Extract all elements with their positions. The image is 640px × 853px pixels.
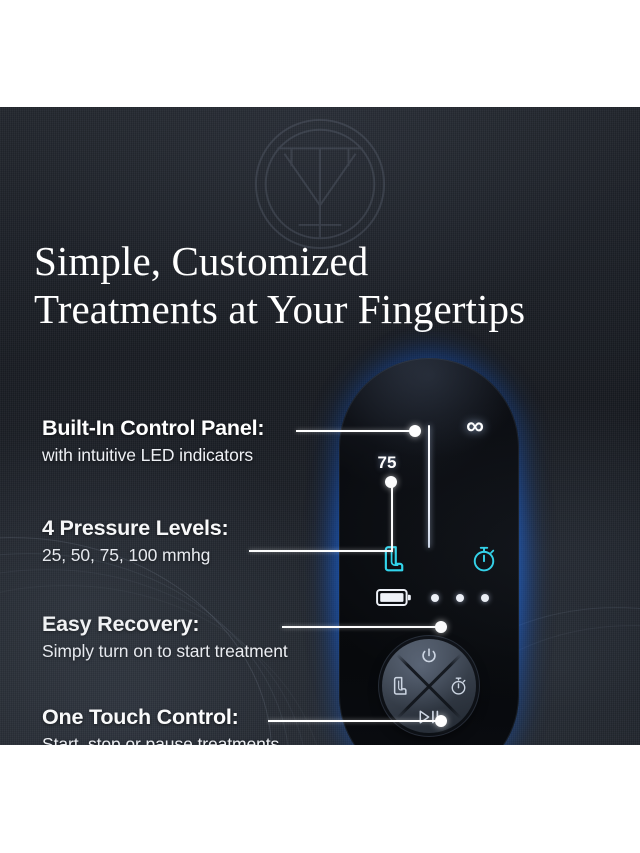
callout-subtitle: Start, stop or pause treatments xyxy=(42,733,279,745)
headline-line-2: Treatments at Your Fingertips xyxy=(34,285,604,333)
led-level-bar xyxy=(428,425,430,548)
callout-end-dot xyxy=(435,715,447,727)
button-pad[interactable] xyxy=(382,639,476,733)
callout-easy-recovery: Easy Recovery: Simply turn on to start t… xyxy=(42,612,288,663)
callout-end-dot xyxy=(409,425,421,437)
boot-icon[interactable] xyxy=(391,676,407,696)
callout-subtitle: Simply turn on to start treatment xyxy=(42,640,288,663)
battery-level-dot xyxy=(481,594,489,602)
callout-subtitle: 25, 50, 75, 100 mmhg xyxy=(42,544,228,567)
callout-built-in-control-panel: Built-In Control Panel: with intuitive L… xyxy=(42,416,264,467)
callout-leader-line xyxy=(268,720,441,722)
pressure-value-label: 75 xyxy=(368,454,406,472)
callout-leader-line-vertical xyxy=(391,482,393,552)
callout-title: Easy Recovery: xyxy=(42,612,288,637)
callout-one-touch-control: One Touch Control: Start, stop or pause … xyxy=(42,705,279,745)
product-photo-background: Simple, Customized Treatments at Your Fi… xyxy=(0,107,640,745)
power-icon[interactable] xyxy=(420,647,438,665)
callout-title: One Touch Control: xyxy=(42,705,279,730)
callout-end-dot xyxy=(435,621,447,633)
callout-title: 4 Pressure Levels: xyxy=(42,516,228,541)
callout-leader-line xyxy=(282,626,441,628)
battery-level-dot xyxy=(431,594,439,602)
infinity-icon: ∞ xyxy=(451,414,499,439)
stopwatch-icon[interactable] xyxy=(449,676,468,696)
stopwatch-icon xyxy=(470,545,498,573)
callout-title: Built-In Control Panel: xyxy=(42,416,264,441)
headline-line-1: Simple, Customized xyxy=(34,237,604,285)
callout-subtitle: with intuitive LED indicators xyxy=(42,444,264,467)
callout-leader-line xyxy=(249,550,393,552)
callout-pressure-levels: 4 Pressure Levels: 25, 50, 75, 100 mmhg xyxy=(42,516,228,567)
callout-end-dot xyxy=(385,476,397,488)
infographic-canvas: Simple, Customized Treatments at Your Fi… xyxy=(0,0,640,853)
callout-leader-line xyxy=(296,430,415,432)
battery-icon xyxy=(376,589,412,606)
page-title: Simple, Customized Treatments at Your Fi… xyxy=(34,237,604,333)
battery-level-dot xyxy=(456,594,464,602)
